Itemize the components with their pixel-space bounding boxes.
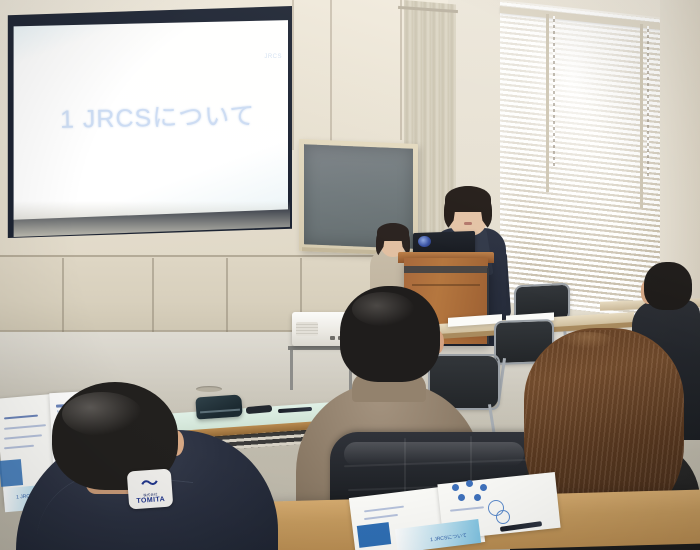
wall-seam	[292, 0, 294, 150]
attendee-front-left-hair-highlight	[62, 392, 142, 436]
tomita-mark-icon: 〜	[141, 474, 159, 492]
podium-trim	[404, 266, 488, 273]
tomita-logo-patch: 〜 株式会社 TOMITA	[127, 469, 174, 510]
blind-cord[interactable]	[647, 26, 649, 176]
attendee-far-right-hair	[644, 262, 692, 310]
projector-port	[330, 336, 335, 340]
handout-diagram-node	[474, 494, 481, 501]
slide-corner-mark: JRCS	[264, 54, 282, 60]
eyeglass-pouch[interactable]	[195, 394, 242, 419]
cabinet-seam	[152, 258, 154, 334]
presenter-mouth	[464, 222, 472, 225]
handout-blue-block	[0, 459, 23, 487]
assistant-hair-top	[377, 223, 409, 241]
handout-diagram-node	[458, 494, 465, 501]
blind-cord[interactable]	[553, 16, 555, 166]
slide-title: 1 JRCSについて	[60, 96, 256, 136]
floor-outlet	[196, 386, 222, 392]
projector-vent	[296, 322, 318, 336]
handout-diagram-node	[480, 484, 487, 491]
attendee-front-center-hair-highlight	[352, 292, 414, 326]
cabinet-seam	[62, 258, 64, 334]
seminar-room-photo: 1 JRCSについて JRCS	[0, 0, 700, 550]
laptop-sticker	[418, 236, 431, 247]
handout-diagram-node	[452, 484, 459, 491]
wall-seam	[330, 0, 332, 150]
handout-diagram-node	[466, 480, 473, 487]
presenter-hair-top	[445, 186, 491, 212]
handout-blue-block	[357, 522, 391, 548]
window-mullion	[546, 14, 549, 192]
right-wall-pillar	[660, 0, 700, 300]
wall-seam	[400, 0, 402, 140]
projection-screen-frame: 1 JRCSについて JRCS	[2, 6, 292, 238]
attendee-front-right-hair-part	[560, 332, 614, 348]
window-mullion	[640, 24, 643, 208]
tomita-company-name: TOMITA	[136, 495, 165, 504]
handout-diagram-ring	[496, 510, 510, 524]
podium-panel-line	[412, 284, 480, 286]
cabinet-seam	[226, 258, 228, 334]
